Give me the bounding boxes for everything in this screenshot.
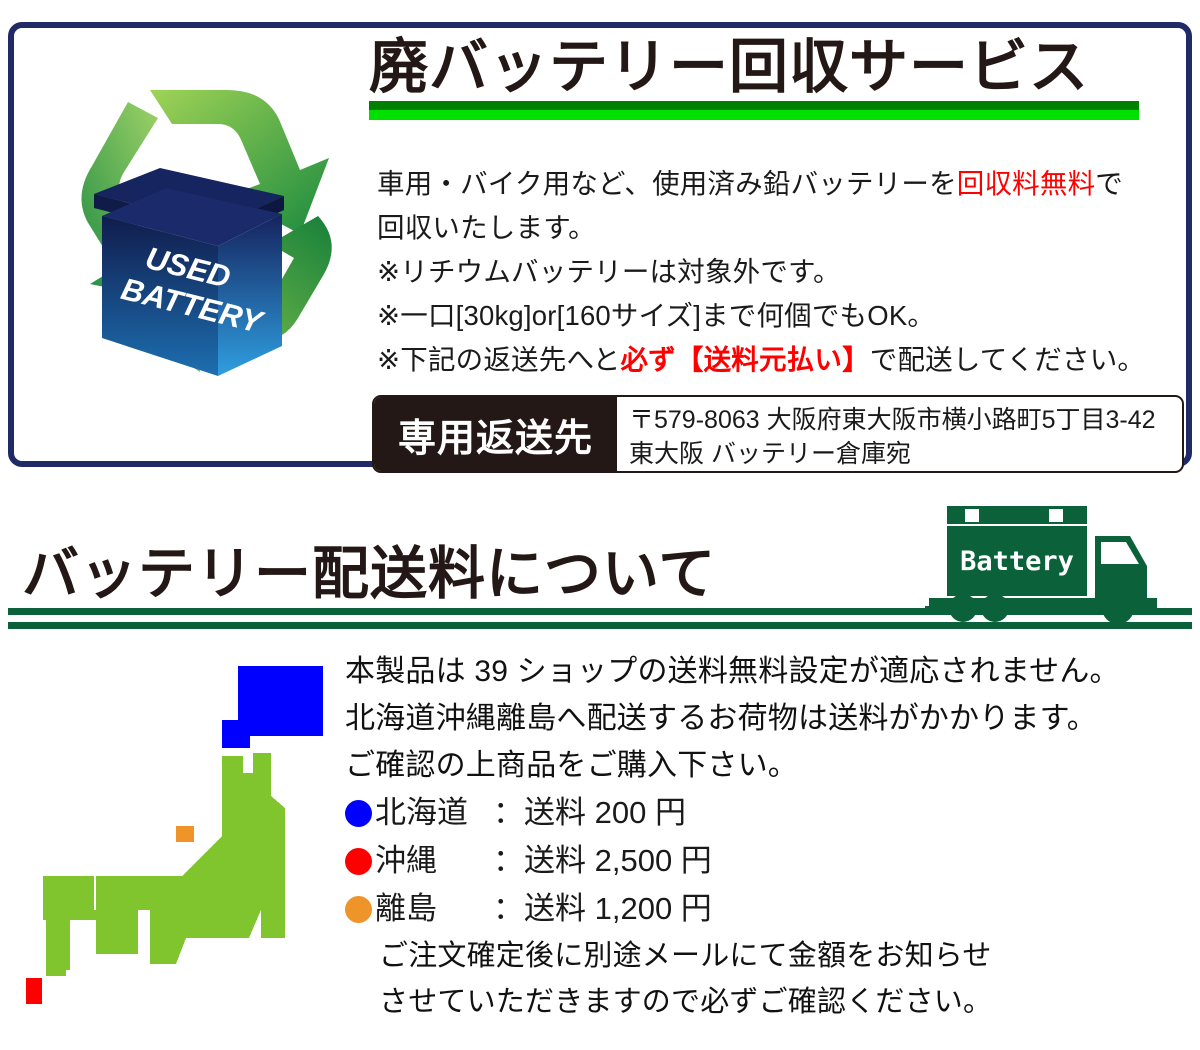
return-address-text: 〒579-8063 大阪府東大阪市横小路町5丁目3-42 東大阪 バッテリー倉庫… (617, 397, 1182, 471)
fee-separator-okinawa: ： (493, 837, 524, 885)
map-region-okinawa (26, 978, 42, 1004)
section-rule-bottom (8, 622, 1192, 629)
shipping-intro-line-2: 北海道沖縄離島へ配送するお荷物は送料がかかります。 (345, 695, 1195, 742)
description-line-2: 回収いたします。 (377, 206, 1192, 250)
fee-separator-hokkaido: ： (493, 789, 524, 837)
fee-region-remote-islands: 離島 (375, 885, 493, 933)
return-address-box: 専用返送先 〒579-8063 大阪府東大阪市横小路町5丁目3-42 東大阪 バ… (372, 395, 1184, 473)
fee-row-hokkaido: 北海道 ： 送料 200 円 (345, 789, 1195, 837)
shipping-note-line-1: ご注文確定後に別途メールにて金額をお知らせ (345, 933, 1195, 979)
fee-row-remote-islands: 離島 ： 送料 1,200 円 (345, 885, 1195, 933)
fee-amount-remote-islands: 送料 1,200 円 (524, 885, 712, 933)
bullet-dot-okinawa (345, 848, 372, 875)
description-line-3: ※リチウムバッテリーは対象外です。 (377, 250, 1192, 294)
map-region-mainland (43, 753, 285, 976)
desc-1-accent: 回収料無料 (957, 168, 1096, 199)
title-underline-light (369, 110, 1139, 120)
title-underline-dark (369, 101, 1139, 110)
shipping-note-line-2: させていただきますので必ずご確認ください。 (345, 979, 1195, 1025)
description-line-1: 車用・バイク用など、使用済み鉛バッテリーを回収料無料で (377, 162, 1192, 206)
japan-map (10, 648, 340, 1023)
shipping-details: 本製品は 39 ショップの送料無料設定が適応されません。 北海道沖縄離島へ配送す… (345, 648, 1195, 1025)
return-address-line-2: 東大阪 バッテリー倉庫宛 (629, 437, 1182, 471)
desc-5-post: で配送してください。 (870, 344, 1145, 375)
truck-label: Battery (960, 546, 1074, 577)
map-region-island (176, 826, 194, 842)
shipping-intro-line-1: 本製品は 39 ショップの送料無料設定が適応されません。 (345, 648, 1195, 695)
desc-5-pre: ※下記の返送先へと (377, 344, 620, 375)
page-root: USED BATTERY 廃バッテリー回収サービス 車用・バイク用など、使用済み… (0, 0, 1200, 1050)
recycle-service-panel: USED BATTERY 廃バッテリー回収サービス 車用・バイク用など、使用済み… (8, 22, 1192, 467)
used-battery-recycle-icon: USED BATTERY (32, 46, 362, 406)
shipping-intro-line-3: ご確認の上商品をご購入下さい。 (345, 742, 1195, 789)
description-line-5: ※下記の返送先へと必ず【送料元払い】で配送してください。 (377, 338, 1192, 382)
fee-separator-remote-islands: ： (493, 885, 524, 933)
desc-5-accent: 必ず【送料元払い】 (620, 344, 869, 375)
recycle-description: 車用・バイク用など、使用済み鉛バッテリーを回収料無料で 回収いたします。 ※リチ… (377, 162, 1192, 382)
page-title: 廃バッテリー回収サービス (369, 36, 1179, 99)
delivery-truck-icon: Battery (925, 498, 1190, 623)
desc-1-pre: 車用・バイク用など、使用済み鉛バッテリーを (377, 168, 957, 199)
fee-amount-okinawa: 送料 2,500 円 (524, 837, 712, 885)
fee-row-okinawa: 沖縄 ： 送料 2,500 円 (345, 837, 1195, 885)
recycle-title-block: 廃バッテリー回収サービス (369, 36, 1179, 120)
desc-1-post: で (1095, 168, 1123, 199)
return-address-label: 専用返送先 (374, 397, 617, 471)
bullet-dot-hokkaido (345, 800, 372, 827)
return-address-line-1: 〒579-8063 大阪府東大阪市横小路町5丁目3-42 (629, 403, 1182, 437)
fee-region-hokkaido: 北海道 (375, 789, 493, 837)
fee-region-okinawa: 沖縄 (375, 837, 493, 885)
map-region-hokkaido (222, 666, 323, 748)
shipping-section-title: バッテリー配送料について (22, 528, 716, 610)
bullet-dot-remote-islands (345, 896, 372, 923)
description-line-4: ※一口[30kg]or[160サイズ]まで何個でもOK。 (377, 294, 1192, 338)
fee-amount-hokkaido: 送料 200 円 (524, 789, 686, 837)
